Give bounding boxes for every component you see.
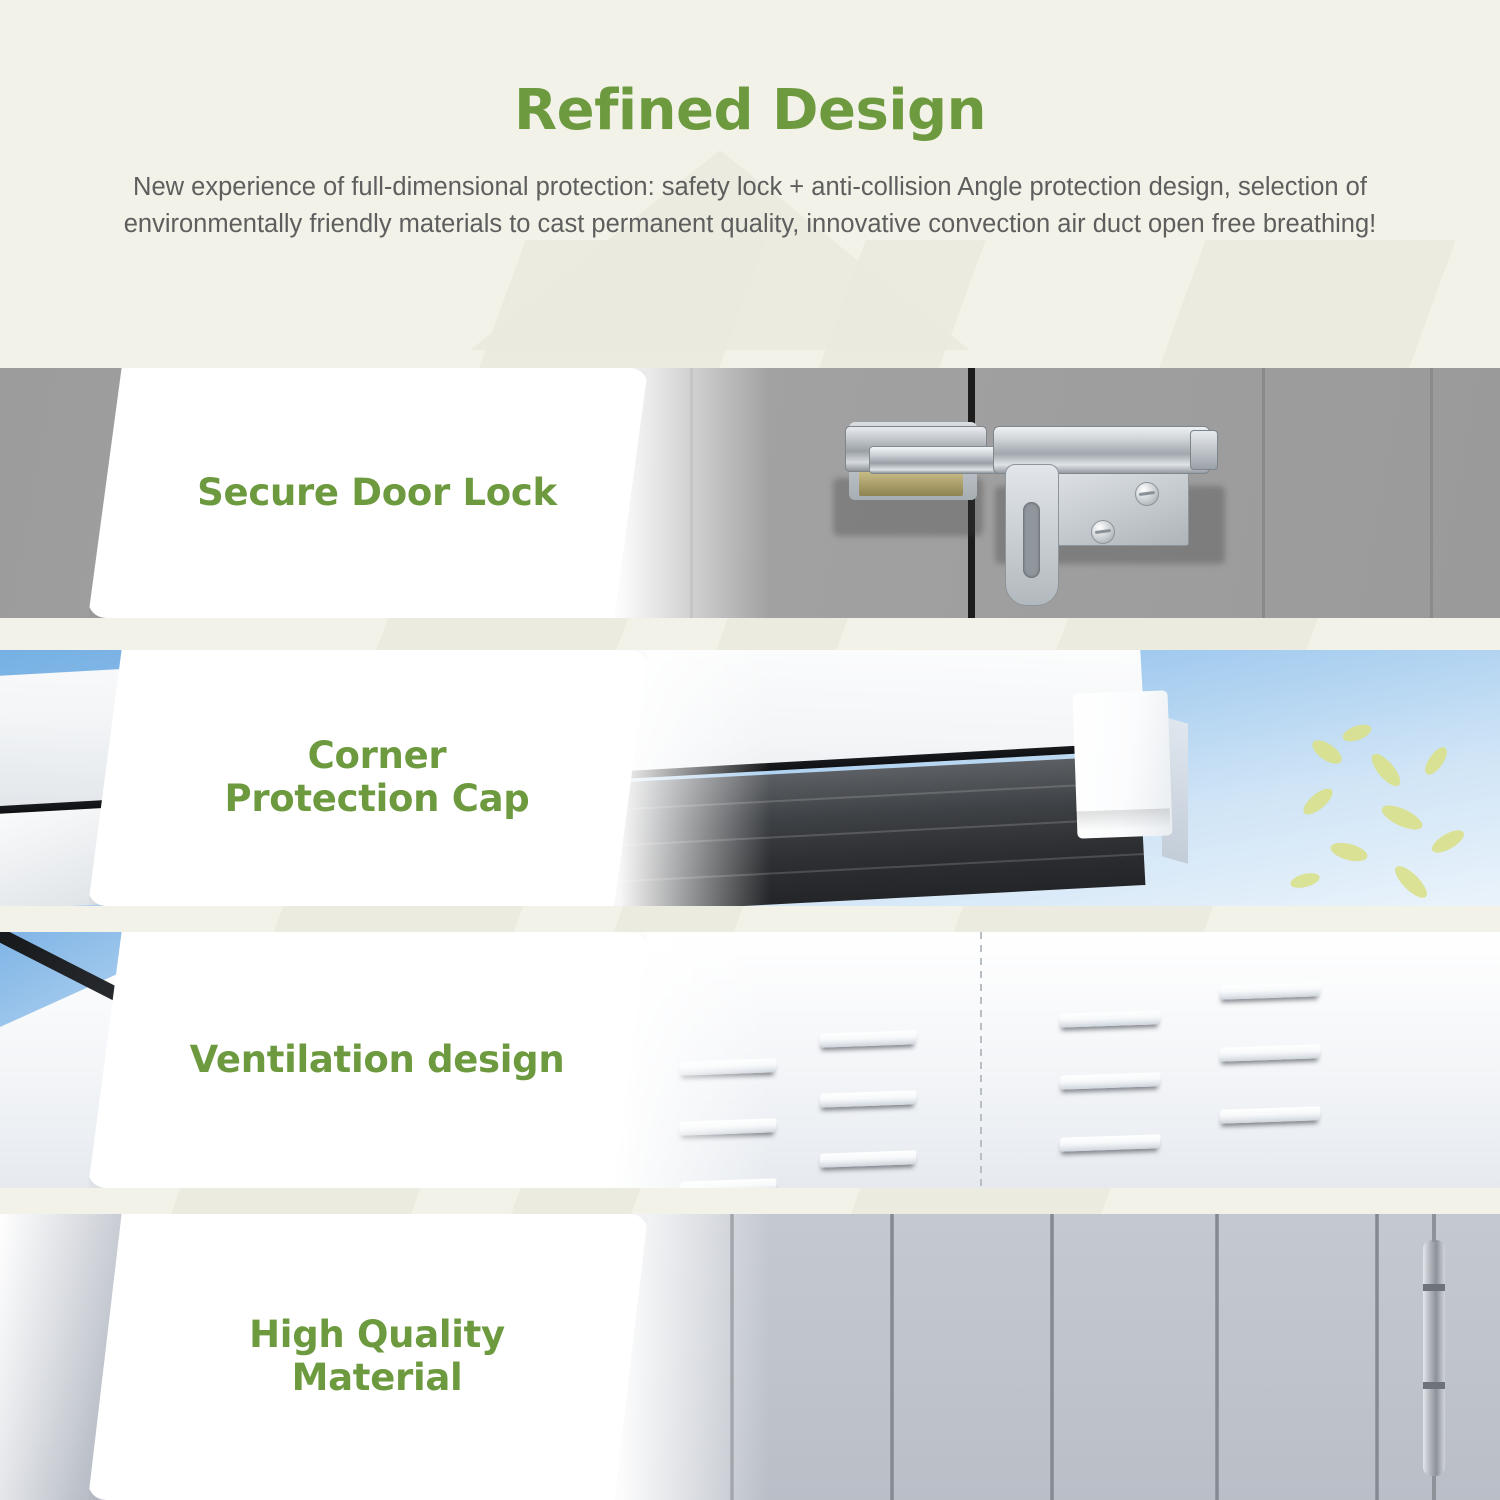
tree-foliage	[1270, 714, 1500, 906]
feature-label-2-line2: Protection Cap	[132, 778, 622, 821]
panel-seam	[980, 932, 982, 1188]
feature-row-corner-protection-cap: Corner Protection Cap	[0, 650, 1500, 906]
feature-label-4: High Quality Material	[88, 1314, 648, 1400]
hinge-pin-bottom	[1432, 1476, 1436, 1500]
panel-groove-3	[1050, 1214, 1054, 1500]
panel-groove-5	[1375, 1214, 1379, 1500]
feature-label-4-line1: High Quality	[132, 1314, 622, 1357]
page-title: Refined Design	[0, 0, 1500, 143]
feature-label-3: Ventilation design	[88, 1039, 648, 1082]
feature-label-card-1[interactable]: Secure Door Lock	[88, 368, 648, 618]
panel-groove-4	[1215, 1214, 1219, 1500]
hinge-band-top	[1423, 1284, 1445, 1291]
feature-label-3-line1: Ventilation design	[190, 1038, 565, 1081]
feature-row-secure-door-lock: Secure Door Lock	[0, 368, 1500, 618]
header: Refined Design New experience of full-di…	[0, 0, 1500, 243]
slide-bolt-lock-icon	[845, 408, 1265, 598]
feature-label-1: Secure Door Lock	[88, 472, 648, 515]
hinge-pin-top	[1432, 1214, 1436, 1242]
feature-label-2-line1: Corner	[132, 735, 622, 778]
feature-label-1-line1: Secure Door Lock	[197, 471, 557, 514]
feature-label-2: Corner Protection Cap	[88, 735, 648, 821]
door-hinge-icon	[1423, 1240, 1445, 1476]
feature-row-ventilation-design: Ventilation design	[0, 932, 1500, 1188]
page-subtitle: New experience of full-dimensional prote…	[60, 169, 1440, 243]
hinge-band-bottom	[1423, 1382, 1445, 1389]
feature-label-card-2[interactable]: Corner Protection Cap	[88, 650, 648, 906]
feature-label-4-line2: Material	[132, 1357, 622, 1400]
panel-groove-2	[890, 1214, 894, 1500]
corner-cap-shadow	[1075, 808, 1171, 831]
feature-label-card-4[interactable]: High Quality Material	[88, 1214, 648, 1500]
feature-label-card-3[interactable]: Ventilation design	[88, 932, 648, 1188]
feature-row-high-quality-material: High Quality Material	[0, 1214, 1500, 1500]
door-rib-far-right	[1430, 368, 1433, 618]
